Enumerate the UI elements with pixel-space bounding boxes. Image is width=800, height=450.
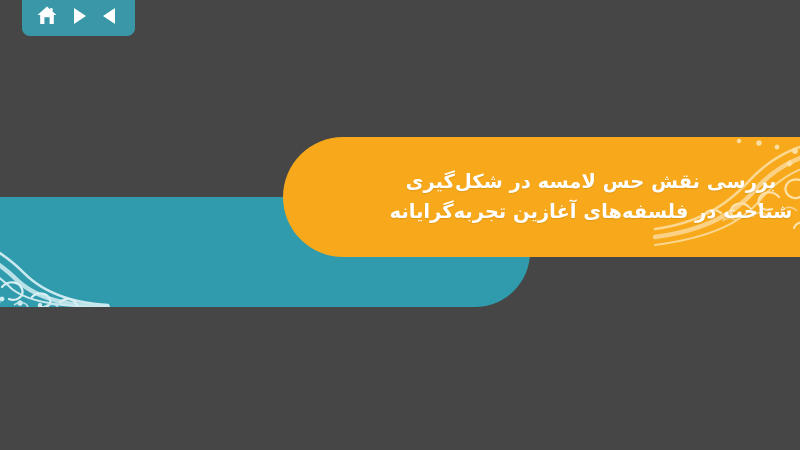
slide-title: بررسی نقش حس لامسه در شکل‌گیری شناخت در … [365,167,800,227]
slide-canvas: بررسی نقش حس لامسه در شکل‌گیری شناخت در … [0,0,800,450]
home-button[interactable] [35,4,59,28]
title-banner: بررسی نقش حس لامسه در شکل‌گیری شناخت در … [283,137,800,257]
home-icon [36,5,58,27]
back-button[interactable] [98,4,122,28]
triangle-right-icon [69,6,89,26]
arabesque-ornament-icon [0,197,110,307]
title-line-1: بررسی نقش حس لامسه در شکل‌گیری [365,167,800,197]
forward-button[interactable] [67,4,91,28]
navigation-toolbar[interactable] [22,0,135,36]
title-line-2: شناخت در فلسفه‌های آغازین تجربه‌گرایانه [365,197,800,227]
triangle-left-icon [100,6,120,26]
